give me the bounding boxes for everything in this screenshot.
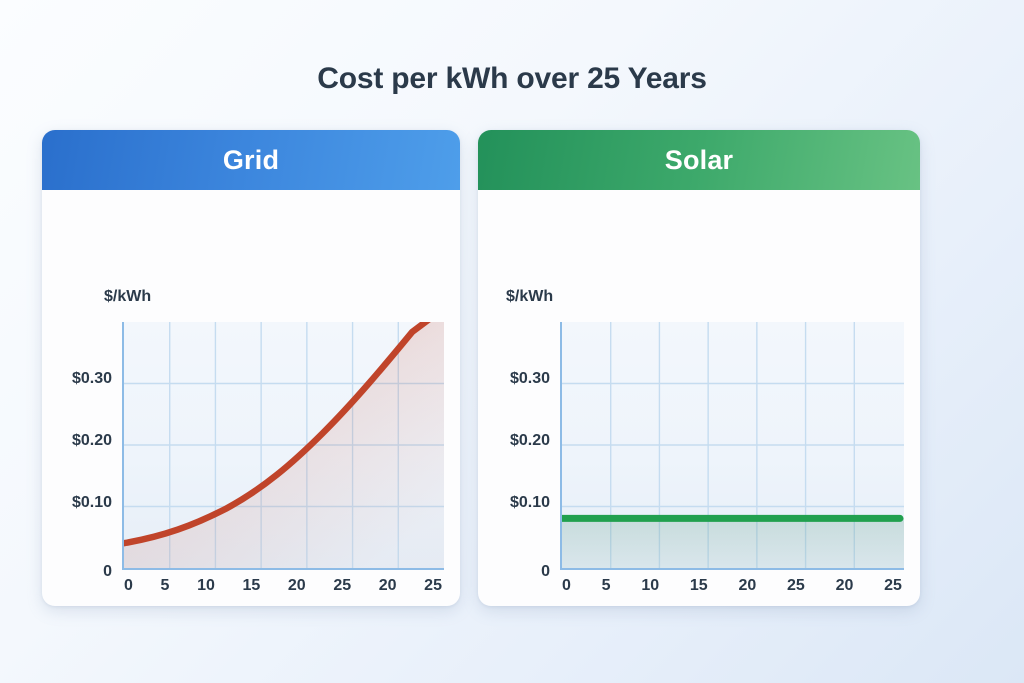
x-tick-solar-1: 5 bbox=[602, 577, 611, 595]
chart-body-grid: $/kWh bbox=[42, 190, 460, 606]
y-tick-solar-2: $0.10 bbox=[510, 494, 550, 512]
x-tick-solar-2: 10 bbox=[641, 577, 659, 595]
solar-cost-line-svg bbox=[562, 322, 904, 568]
x-tick-grid-7: 25 bbox=[424, 577, 442, 595]
chart-body-solar: $/kWh bbox=[478, 190, 920, 606]
y-tick-solar-1: $0.20 bbox=[510, 432, 550, 450]
x-tick-solar-3: 15 bbox=[690, 577, 708, 595]
y-tick-grid-1: $0.20 bbox=[72, 432, 112, 450]
card-header-solar-label: Solar bbox=[665, 145, 734, 176]
y-tick-grid-0: $0.30 bbox=[72, 370, 112, 388]
x-tick-solar-7: 25 bbox=[884, 577, 902, 595]
card-header-grid-label: Grid bbox=[223, 145, 279, 176]
x-tick-solar-4: 20 bbox=[738, 577, 756, 595]
x-tick-grid-0: 0 bbox=[124, 577, 133, 595]
card-header-solar: Solar bbox=[478, 130, 920, 190]
y-tick-grid-3: 0 bbox=[103, 563, 112, 581]
plot-area-grid: $0.30 $0.20 $0.10 0 0 5 10 15 20 25 20 2… bbox=[122, 322, 444, 570]
x-tick-grid-6: 20 bbox=[379, 577, 397, 595]
plot-canvas-solar bbox=[560, 322, 904, 570]
x-tick-grid-5: 25 bbox=[333, 577, 351, 595]
x-tick-solar-6: 20 bbox=[836, 577, 854, 595]
page-title: Cost per kWh over 25 Years bbox=[0, 62, 1024, 96]
solar-cost-area bbox=[562, 518, 904, 568]
x-tick-grid-4: 20 bbox=[288, 577, 306, 595]
x-tick-solar-0: 0 bbox=[562, 577, 571, 595]
x-tick-solar-5: 25 bbox=[787, 577, 805, 595]
x-tick-grid-3: 15 bbox=[242, 577, 260, 595]
plot-area-solar: $0.30 $0.20 $0.10 0 0 5 10 15 20 25 20 2… bbox=[560, 322, 904, 570]
card-header-grid: Grid bbox=[42, 130, 460, 190]
y-axis-title-solar: $/kWh bbox=[506, 288, 553, 306]
x-tick-row-solar: 0 5 10 15 20 25 20 25 bbox=[560, 577, 904, 595]
y-tick-grid-2: $0.10 bbox=[72, 494, 112, 512]
chart-card-grid: Grid $/kWh bbox=[42, 130, 460, 606]
x-tick-row-grid: 0 5 10 15 20 25 20 25 bbox=[122, 577, 444, 595]
x-tick-grid-2: 10 bbox=[197, 577, 215, 595]
chart-card-solar: Solar $/kWh bbox=[478, 130, 920, 606]
y-tick-solar-0: $0.30 bbox=[510, 370, 550, 388]
y-tick-solar-3: 0 bbox=[541, 563, 550, 581]
grid-cost-curve-svg bbox=[124, 322, 444, 568]
y-axis-title-grid: $/kWh bbox=[104, 288, 151, 306]
x-tick-grid-1: 5 bbox=[161, 577, 170, 595]
plot-canvas-grid bbox=[122, 322, 444, 570]
